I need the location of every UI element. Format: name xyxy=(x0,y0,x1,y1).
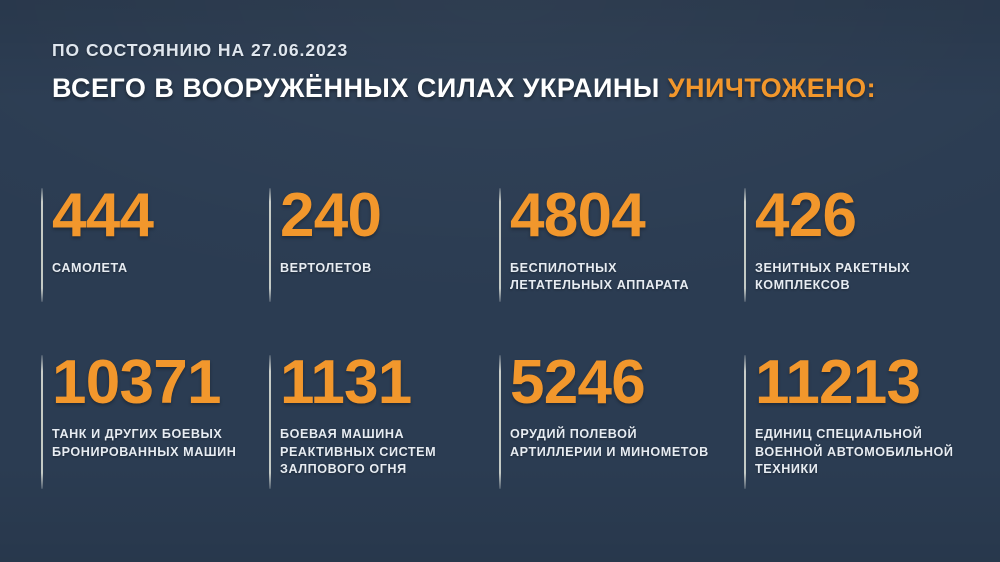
stat-card-uav: 4804 БЕСПИЛОТНЫХ ЛЕТАТЕЛЬНЫХ АППАРАТА xyxy=(490,186,735,295)
divider-line xyxy=(744,188,746,302)
stat-card-aircraft: 444 САМОЛЕТА xyxy=(32,186,260,295)
stat-label: ОРУДИЙ ПОЛЕВОЙ АРТИЛЛЕРИИ И МИНОМЕТОВ xyxy=(510,426,735,461)
divider-line xyxy=(744,355,746,489)
stat-label: ЕДИНИЦ СПЕЦИАЛЬНОЙ ВОЕННОЙ АВТОМОБИЛЬНОЙ… xyxy=(755,426,972,478)
stat-label: БОЕВАЯ МАШИНА РЕАКТИВНЫХ СИСТЕМ ЗАЛПОВОГ… xyxy=(280,426,490,478)
stat-label: ВЕРТОЛЕТОВ xyxy=(280,260,490,277)
stat-label: ЗЕНИТНЫХ РАКЕТНЫХ КОМПЛЕКСОВ xyxy=(755,260,972,295)
stat-value: 444 xyxy=(52,186,260,247)
as-of-date: ПО СОСТОЯНИЮ НА 27.06.2023 xyxy=(52,40,960,61)
stat-card-air-defense: 426 ЗЕНИТНЫХ РАКЕТНЫХ КОМПЛЕКСОВ xyxy=(735,186,972,295)
divider-line xyxy=(269,188,271,302)
divider-line xyxy=(499,188,501,302)
page-title-main: ВСЕГО В ВООРУЖЁННЫХ СИЛАХ УКРАИНЫ xyxy=(52,73,668,103)
divider-line xyxy=(269,355,271,489)
stat-label: ТАНК И ДРУГИХ БОЕВЫХ БРОНИРОВАННЫХ МАШИН xyxy=(52,426,260,461)
stat-value: 10371 xyxy=(52,353,260,414)
stat-card-military-vehicles: 11213 ЕДИНИЦ СПЕЦИАЛЬНОЙ ВОЕННОЙ АВТОМОБ… xyxy=(735,353,972,479)
stat-label: САМОЛЕТА xyxy=(52,260,260,277)
stats-grid: 444 САМОЛЕТА 240 ВЕРТОЛЕТОВ 4804 БЕСПИЛО… xyxy=(32,186,972,478)
stat-value: 5246 xyxy=(510,353,735,414)
page-title: ВСЕГО В ВООРУЖЁННЫХ СИЛАХ УКРАИНЫ УНИЧТО… xyxy=(52,73,960,104)
stat-card-tanks: 10371 ТАНК И ДРУГИХ БОЕВЫХ БРОНИРОВАННЫХ… xyxy=(32,353,260,479)
stat-label: БЕСПИЛОТНЫХ ЛЕТАТЕЛЬНЫХ АППАРАТА xyxy=(510,260,735,295)
divider-line xyxy=(499,355,501,489)
stat-value: 4804 xyxy=(510,186,735,247)
divider-line xyxy=(41,355,43,489)
infographic-root: ПО СОСТОЯНИЮ НА 27.06.2023 ВСЕГО В ВООРУ… xyxy=(0,0,1000,562)
stat-card-artillery: 5246 ОРУДИЙ ПОЛЕВОЙ АРТИЛЛЕРИИ И МИНОМЕТ… xyxy=(490,353,735,479)
divider-line xyxy=(41,188,43,302)
page-title-accent: УНИЧТОЖЕНО: xyxy=(668,73,876,103)
header: ПО СОСТОЯНИЮ НА 27.06.2023 ВСЕГО В ВООРУ… xyxy=(52,40,960,104)
stat-value: 426 xyxy=(755,186,972,247)
stat-value: 11213 xyxy=(755,353,972,414)
stat-value: 1131 xyxy=(280,353,490,414)
stat-value: 240 xyxy=(280,186,490,247)
stat-card-mlrs: 1131 БОЕВАЯ МАШИНА РЕАКТИВНЫХ СИСТЕМ ЗАЛ… xyxy=(260,353,490,479)
stat-card-helicopters: 240 ВЕРТОЛЕТОВ xyxy=(260,186,490,295)
